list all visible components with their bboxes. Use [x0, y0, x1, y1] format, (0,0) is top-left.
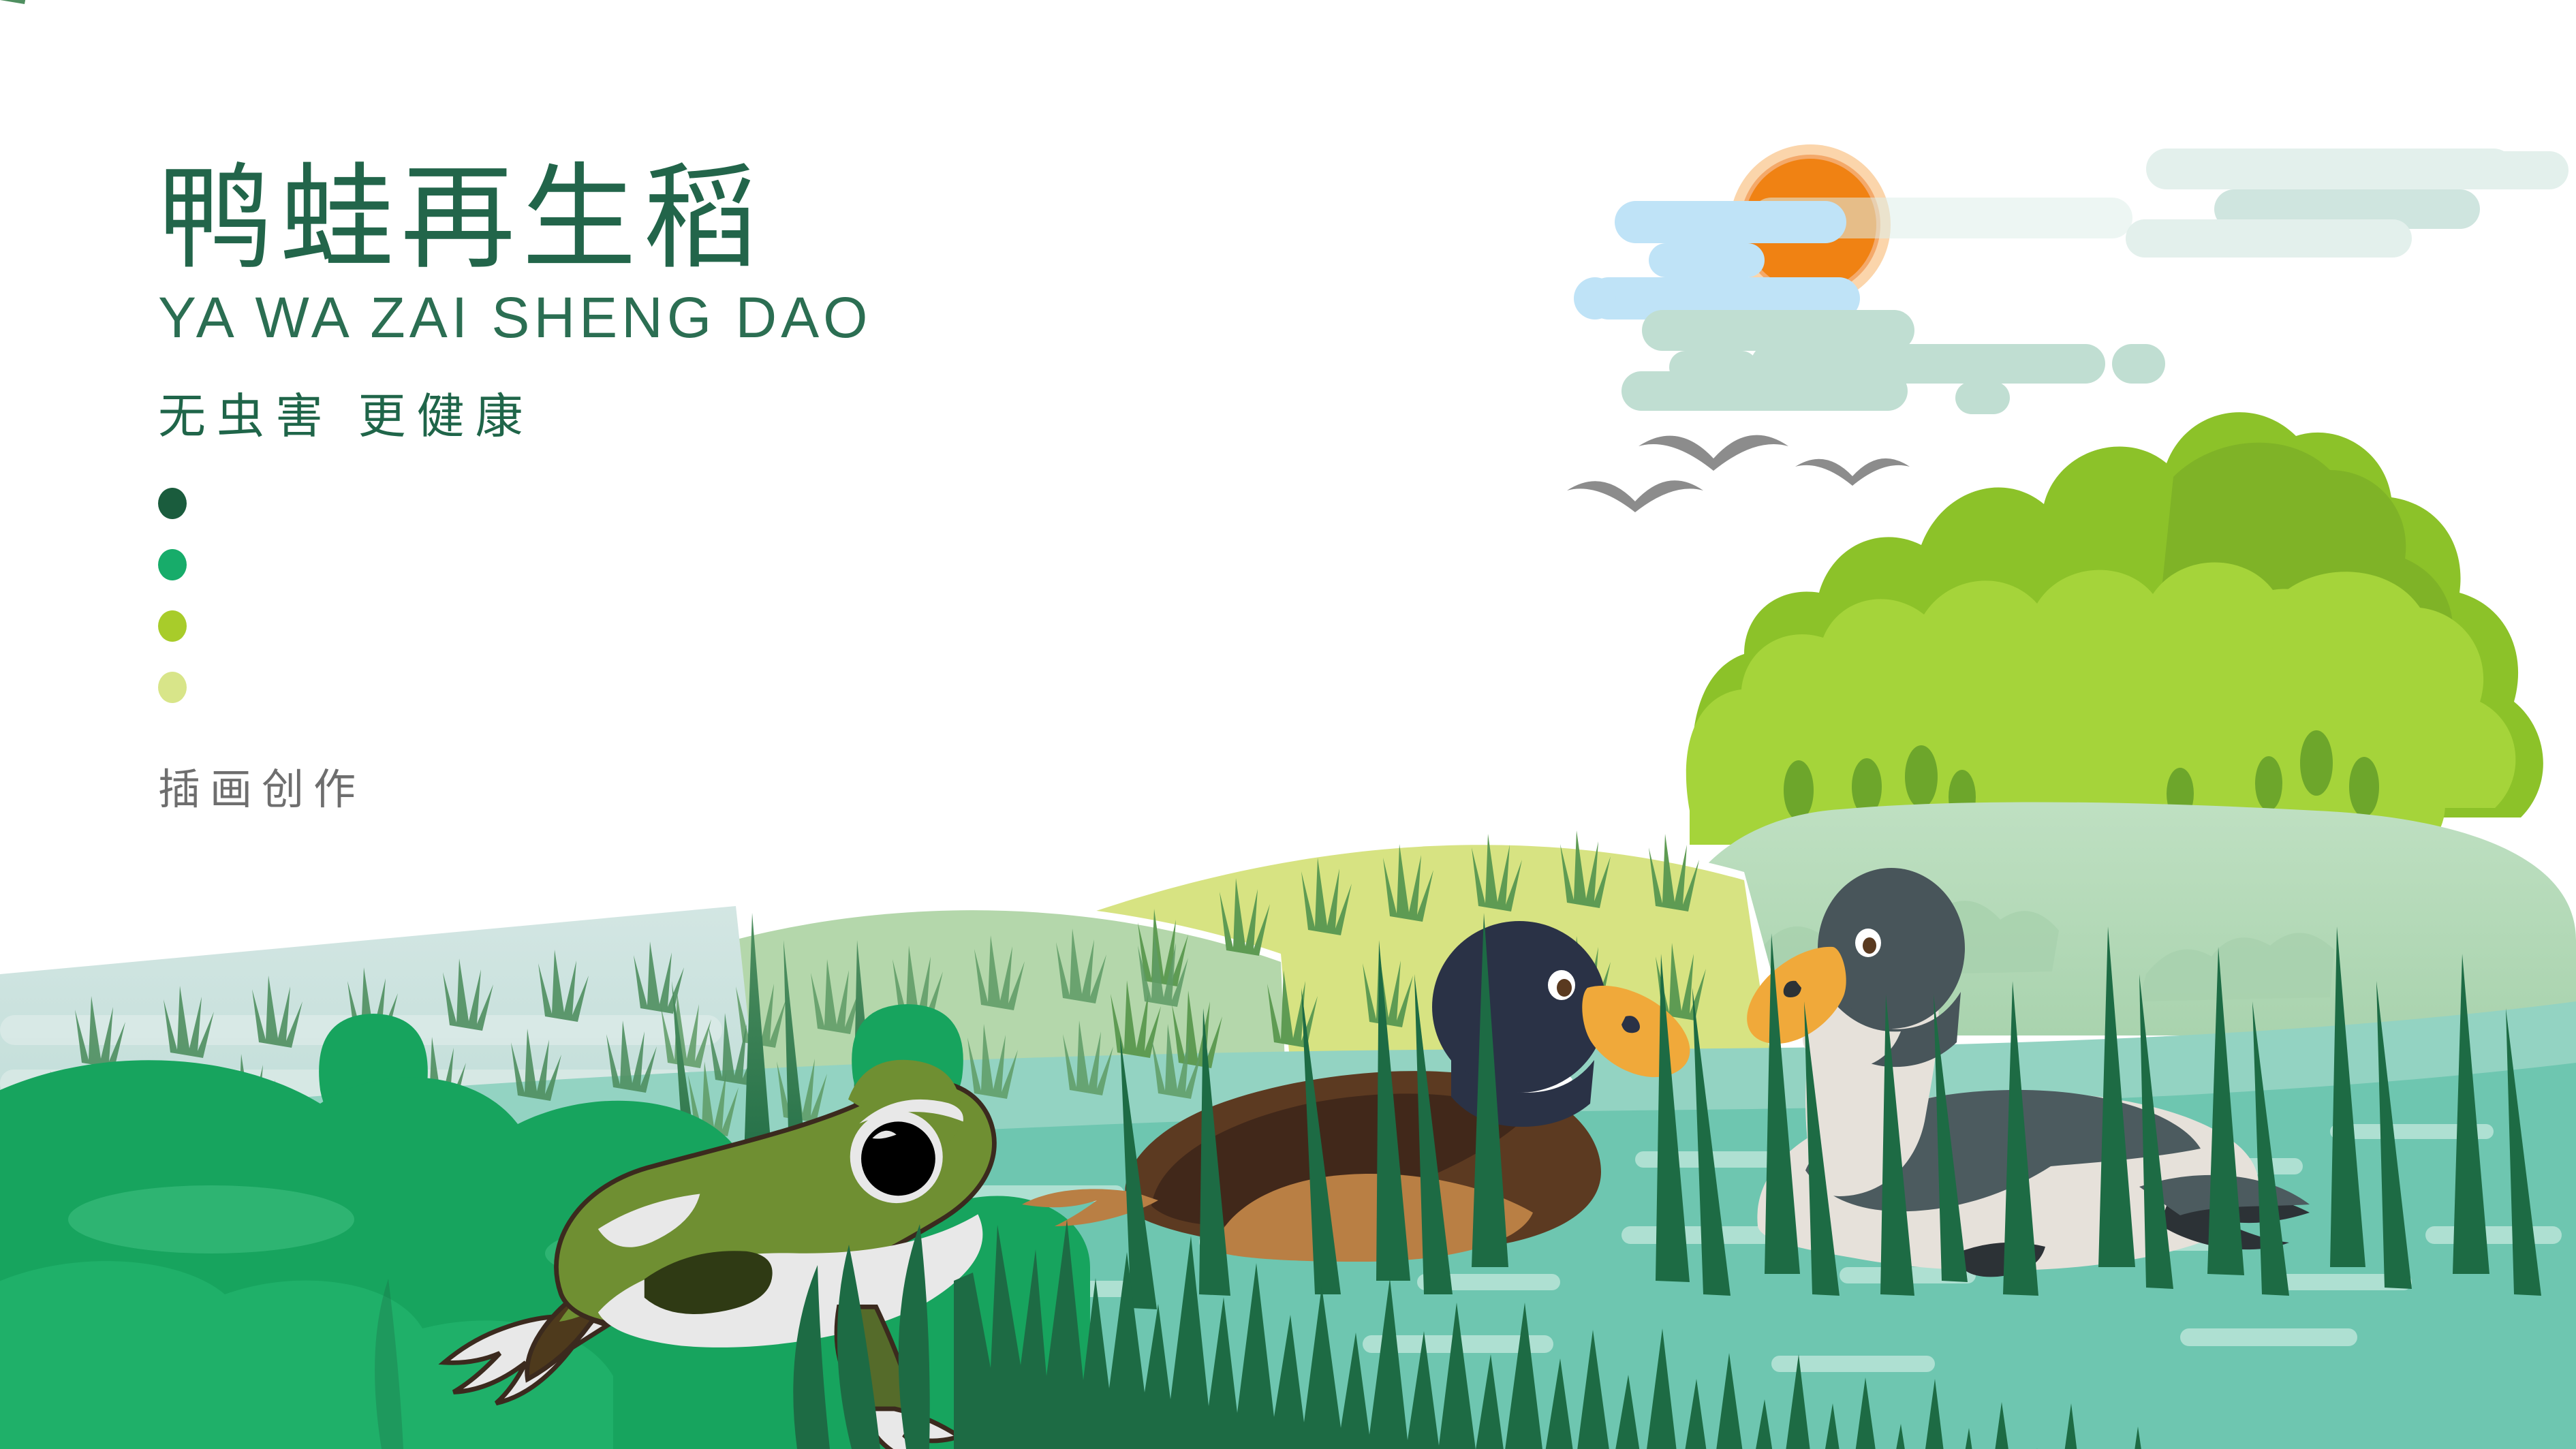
text-block: 鸭蛙再生稻 YA WA ZAI SHENG DAO 无虫害 更健康 插画创作 — [158, 158, 872, 816]
page-caption: 插画创作 — [158, 755, 872, 816]
dot-dark-green — [158, 488, 187, 519]
page-title-pinyin: YA WA ZAI SHENG DAO — [158, 287, 872, 347]
dot-list — [158, 488, 872, 703]
dot-yellow-green — [158, 610, 187, 642]
dot-pale-green — [158, 672, 187, 703]
dot-emerald — [158, 549, 187, 580]
illustration-poster: 鸭蛙再生稻 YA WA ZAI SHENG DAO 无虫害 更健康 插画创作 — [0, 0, 2576, 1449]
page-title-chinese: 鸭蛙再生稻 — [158, 158, 872, 278]
page-subtitle: 无虫害 更健康 — [158, 390, 872, 443]
